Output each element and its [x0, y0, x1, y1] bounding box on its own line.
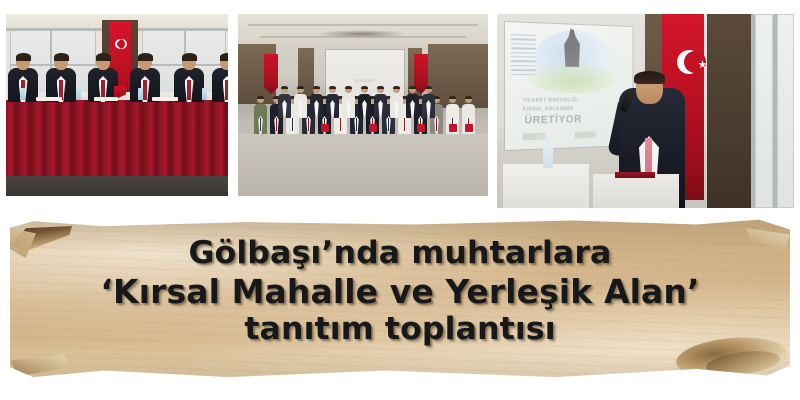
headline-banner: Gölbaşı’nda muhtarlara ‘Kırsal Mahalle v… [0, 206, 800, 392]
photo2-ceiling-band-1 [248, 24, 478, 26]
headline-line-3: tanıtım toplantısı [2, 314, 798, 345]
turkish-flag-icon [264, 54, 278, 94]
photo3-lectern [593, 174, 679, 208]
headline-text: Gölbaşı’nda muhtarlara ‘Kırsal Mahalle v… [10, 238, 790, 345]
photo3-speaker-hair [634, 71, 665, 84]
photo1-bottle-2 [76, 88, 81, 100]
photo3-side-table [503, 164, 589, 208]
headline-line-1: Gölbaşı’nda muhtarlara [2, 238, 798, 269]
photo1-person-1 [46, 54, 76, 102]
photo1-person-3 [130, 54, 160, 102]
photo1-table-skirt [6, 100, 228, 178]
photo-panel-table-content [6, 14, 228, 196]
photo-speaker: TİCARET BAKANLIĞI KIRSAL KALKINMA ÜRETİY… [497, 14, 794, 208]
headline-line-2: ‘Kırsal Mahalle ve Yerleşik Alan’ [10, 275, 790, 308]
photo2-person-back [390, 86, 403, 118]
slide-headline: ÜRETİYOR [525, 114, 582, 127]
photo1-bottle-1 [20, 88, 25, 100]
photo2-floor [238, 134, 488, 196]
parchment-shade-bottom [10, 352, 790, 382]
photo2-person [462, 96, 475, 134]
photo1-person-4 [174, 54, 204, 102]
photo2-person-back [342, 86, 355, 118]
scroll-curl-bottom-left [10, 354, 70, 376]
news-banner-graphic: GÖLBAŞI [0, 0, 800, 400]
photo-panel-table [6, 14, 228, 196]
photo1-paper-1 [36, 97, 62, 101]
photo3-glass-panel-2 [777, 14, 794, 208]
photo2-chandelier [316, 30, 406, 38]
photo-group-content: GÖLBAŞI [238, 14, 488, 196]
photo3-glass-frame-1 [751, 14, 755, 208]
photo1-bottle-4 [202, 88, 207, 100]
photo1-person-2 [88, 54, 118, 102]
crescent-icon [677, 50, 701, 74]
slide-line-2: KIRSAL KALKINMA [523, 106, 574, 113]
photo2-person-back [310, 86, 323, 118]
photo3-right-wall [707, 14, 757, 208]
photo2-person-back [294, 86, 307, 118]
photo3-lectern-folder [615, 172, 655, 178]
parchment-scroll: Gölbaşı’nda muhtarlara ‘Kırsal Mahalle v… [10, 218, 790, 382]
slide-logos [523, 131, 614, 143]
photo2-person-back [326, 86, 339, 118]
photo3-glass-frame-2 [773, 14, 777, 208]
photo1-paper-3 [152, 97, 178, 101]
photo1-paper-2 [94, 97, 118, 101]
photo2-person-back [406, 86, 419, 118]
photo2-person-back [358, 86, 371, 118]
photo1-floor [6, 176, 228, 196]
photo2-person [446, 96, 459, 134]
photo2-person [254, 96, 267, 134]
photo-speaker-content: TİCARET BAKANLIĞI KIRSAL KALKINMA ÜRETİY… [497, 14, 794, 208]
photo2-person-back [422, 86, 435, 118]
photo1-bottle-3 [138, 88, 143, 100]
photo-group: GÖLBAŞI [238, 14, 488, 196]
photo2-person-back [374, 86, 387, 118]
crescent-icon [115, 39, 125, 49]
water-bottle-icon [543, 142, 553, 168]
photo3-glass-panel-1 [755, 14, 773, 208]
slide-line-1: TİCARET BAKANLIĞI [523, 97, 579, 103]
photo2-person-back [278, 86, 291, 118]
photo2-screen-label: GÖLBAŞI [354, 78, 375, 83]
slide-text-lines [511, 34, 536, 92]
scroll-curl-bottom-right-inner [705, 348, 781, 379]
photo1-person-6 [212, 54, 228, 102]
